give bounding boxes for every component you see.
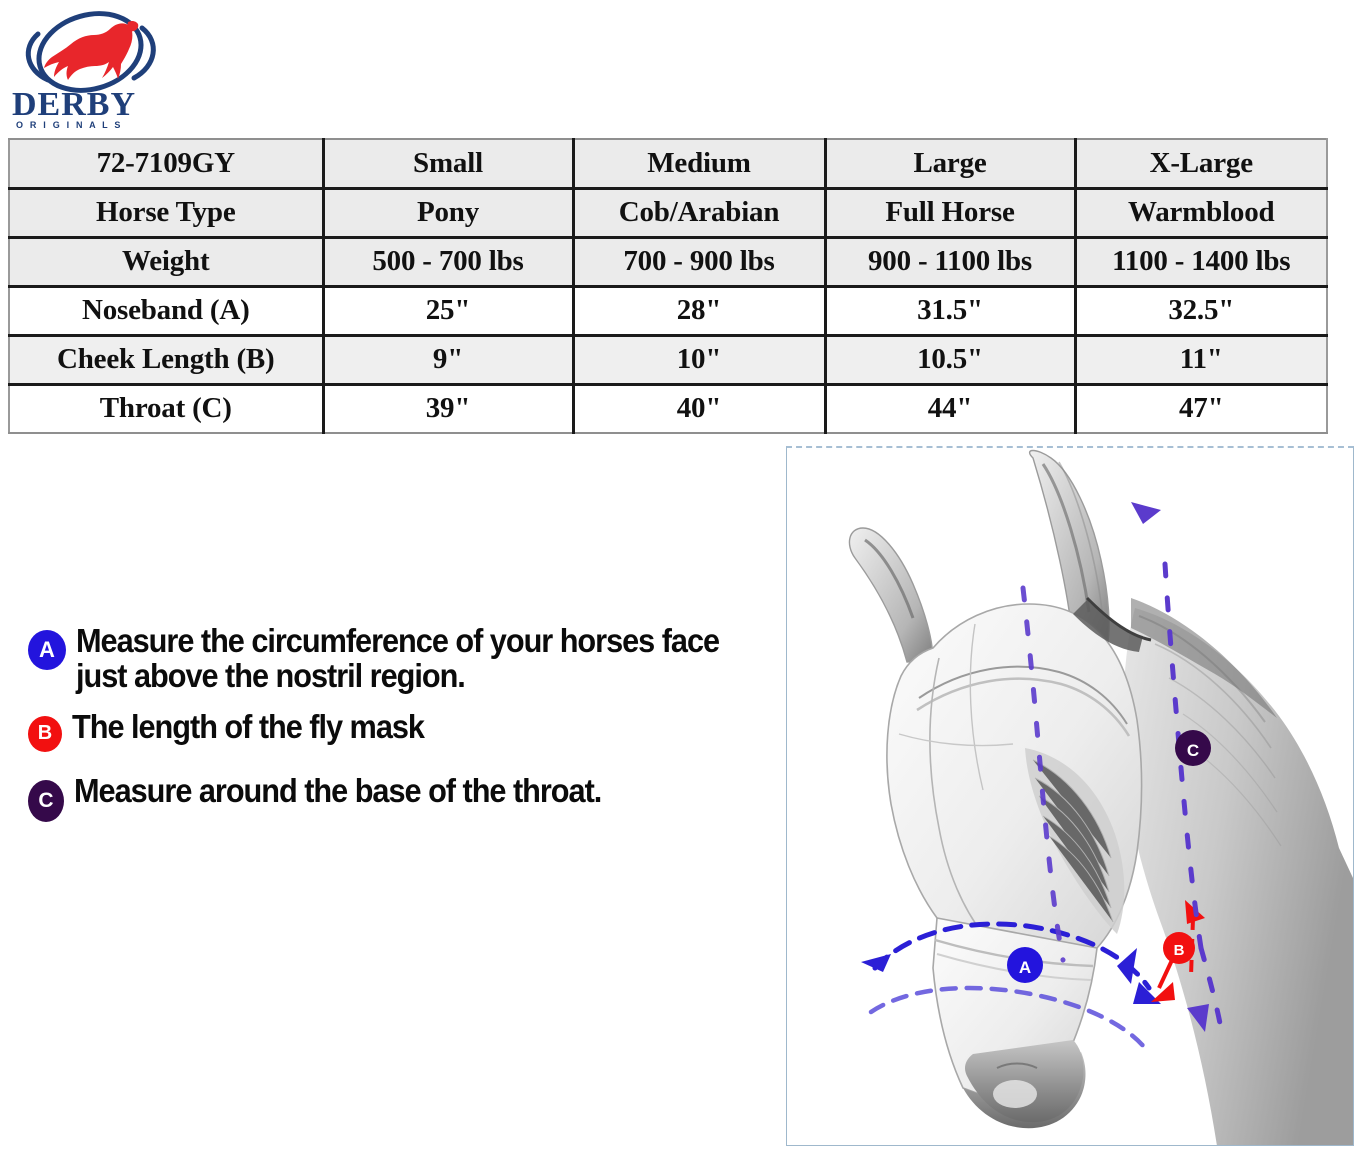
size-chart-table: 72-7109GY Small Medium Large X-Large Hor…: [8, 138, 1328, 434]
cell-weight-large: 900 - 1100 lbs: [825, 237, 1075, 286]
legend-text-a: Measure the circumference of your horses…: [76, 624, 720, 694]
col-header-small: Small: [323, 139, 573, 188]
row-label-horse-type: Horse Type: [9, 188, 323, 237]
brand-logo: DERBY O R I G I N A L S: [8, 8, 188, 130]
cell-noseband-medium: 28": [573, 286, 825, 335]
cell-cheek-large: 10.5": [825, 335, 1075, 384]
legend-item-a: A Measure the circumference of your hors…: [28, 624, 768, 694]
table-row-cheek-length: Cheek Length (B) 9" 10" 10.5" 11": [9, 335, 1327, 384]
row-label-weight: Weight: [9, 237, 323, 286]
legend-text-c: Measure around the base of the throat.: [74, 774, 601, 809]
svg-text:A: A: [1019, 958, 1031, 977]
horse-fly-mask-diagram: A B C: [786, 446, 1354, 1146]
cell-cheek-medium: 10": [573, 335, 825, 384]
cell-horse-type-medium: Cob/Arabian: [573, 188, 825, 237]
badge-a-icon: A: [28, 630, 66, 670]
cell-noseband-large: 31.5": [825, 286, 1075, 335]
cell-cheek-small: 9": [323, 335, 573, 384]
svg-text:C: C: [1187, 741, 1199, 760]
cell-throat-large: 44": [825, 384, 1075, 433]
svg-text:B: B: [1174, 942, 1185, 959]
col-header-large: Large: [825, 139, 1075, 188]
cell-noseband-xlarge: 32.5": [1075, 286, 1327, 335]
row-label-cheek-length: Cheek Length (B): [9, 335, 323, 384]
cell-horse-type-xlarge: Warmblood: [1075, 188, 1327, 237]
col-header-medium: Medium: [573, 139, 825, 188]
row-label-noseband: Noseband (A): [9, 286, 323, 335]
badge-b-icon: B: [28, 716, 62, 752]
legend-item-c: C Measure around the base of the throat.: [28, 774, 768, 822]
cell-noseband-small: 25": [323, 286, 573, 335]
legend-text-b: The length of the fly mask: [72, 710, 424, 745]
cell-throat-small: 39": [323, 384, 573, 433]
brand-tagline: O R I G I N A L S: [16, 120, 123, 130]
cell-horse-type-large: Full Horse: [825, 188, 1075, 237]
brand-wordmark: DERBY: [12, 86, 136, 123]
measurement-legend: A Measure the circumference of your hors…: [28, 624, 768, 838]
cell-throat-xlarge: 47": [1075, 384, 1327, 433]
col-header-xlarge: X-Large: [1075, 139, 1327, 188]
table-row-throat: Throat (C) 39" 40" 44" 47": [9, 384, 1327, 433]
table-row-weight: Weight 500 - 700 lbs 700 - 900 lbs 900 -…: [9, 237, 1327, 286]
badge-c-icon: C: [28, 780, 64, 822]
cell-weight-xlarge: 1100 - 1400 lbs: [1075, 237, 1327, 286]
sku-cell: 72-7109GY: [9, 139, 323, 188]
cell-weight-small: 500 - 700 lbs: [323, 237, 573, 286]
cell-weight-medium: 700 - 900 lbs: [573, 237, 825, 286]
table-row-header: 72-7109GY Small Medium Large X-Large: [9, 139, 1327, 188]
cell-throat-medium: 40": [573, 384, 825, 433]
legend-item-b: B The length of the fly mask: [28, 710, 768, 752]
cell-cheek-xlarge: 11": [1075, 335, 1327, 384]
row-label-throat: Throat (C): [9, 384, 323, 433]
table-row-horse-type: Horse Type Pony Cob/Arabian Full Horse W…: [9, 188, 1327, 237]
cell-horse-type-small: Pony: [323, 188, 573, 237]
table-row-noseband: Noseband (A) 25" 28" 31.5" 32.5": [9, 286, 1327, 335]
